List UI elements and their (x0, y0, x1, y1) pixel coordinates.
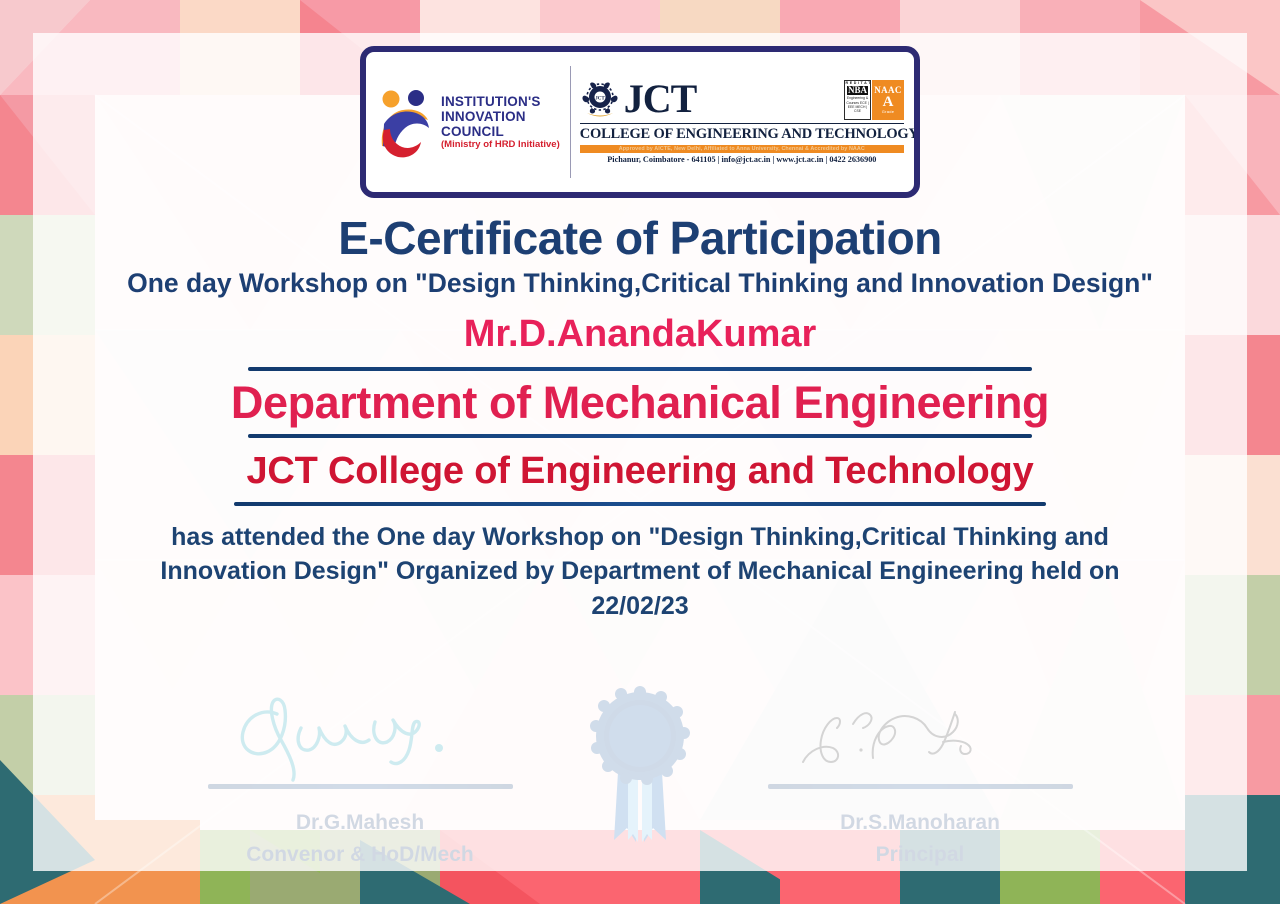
jct-contact-line: Pichanur, Coimbatore - 641105 | info@jct… (580, 155, 904, 164)
accreditation-badges: A C C R E D I T A T I O N NBA Engineerin… (844, 80, 904, 120)
iic-line-1: INSTITUTION'S (441, 94, 560, 109)
certificate-content: INSTITUTION'S INNOVATION COUNCIL (Minist… (0, 0, 1280, 904)
certificate: INSTITUTION'S INNOVATION COUNCIL (Minist… (0, 0, 1280, 904)
svg-text:JCT: JCT (595, 96, 605, 101)
jct-gear-emblem-icon: JCT (580, 80, 620, 120)
divider-rule-1 (248, 367, 1032, 371)
iic-logo-block: INSTITUTION'S INNOVATION COUNCIL (Minist… (376, 86, 570, 158)
nba-badge: A C C R E D I T A T I O N NBA Engineerin… (844, 80, 871, 120)
recipient-department: Department of Mechanical Engineering (231, 379, 1049, 426)
iic-wordmark: INSTITUTION'S INNOVATION COUNCIL (Minist… (441, 94, 560, 151)
certificate-title: E-Certificate of Participation (338, 214, 942, 262)
jct-rule (580, 123, 904, 125)
certificate-subtitle: One day Workshop on "Design Thinking,Cri… (127, 268, 1153, 298)
jct-letters: JCT (624, 81, 840, 118)
nba-mark-label: NBA (847, 86, 868, 95)
divider-rule-3 (234, 502, 1046, 506)
recipient-name: Mr.D.AnandaKumar (464, 315, 817, 355)
jct-top-row: JCT JCT A C C R E D I T A T I O N NBA En… (580, 80, 904, 120)
recipient-institution: JCT College of Engineering and Technolog… (246, 452, 1033, 492)
jct-college-name: COLLEGE OF ENGINEERING AND TECHNOLOGY (580, 126, 904, 143)
jct-logo-block: JCT JCT A C C R E D I T A T I O N NBA En… (571, 80, 904, 165)
naac-grade-label: Grade (882, 110, 895, 114)
naac-badge: NAAC A Grade (872, 80, 904, 120)
divider-rule-2 (248, 434, 1032, 438)
header-logo-bar: INSTITUTION'S INNOVATION COUNCIL (Minist… (360, 46, 920, 198)
naac-grade-value: A (883, 95, 894, 110)
nba-courses-label: Engineering & Courses ECE | EEE MECH | C… (845, 96, 870, 113)
iic-people-logo-icon (376, 86, 434, 158)
certificate-body-text: has attended the One day Workshop on "De… (135, 520, 1145, 624)
iic-ministry-label: (Ministry of HRD Initiative) (441, 140, 560, 151)
iic-line-3: COUNCIL (441, 124, 560, 139)
iic-line-2: INNOVATION (441, 109, 560, 124)
jct-approval-line: Approved by AICTE, New Delhi, Affiliated… (580, 145, 904, 153)
